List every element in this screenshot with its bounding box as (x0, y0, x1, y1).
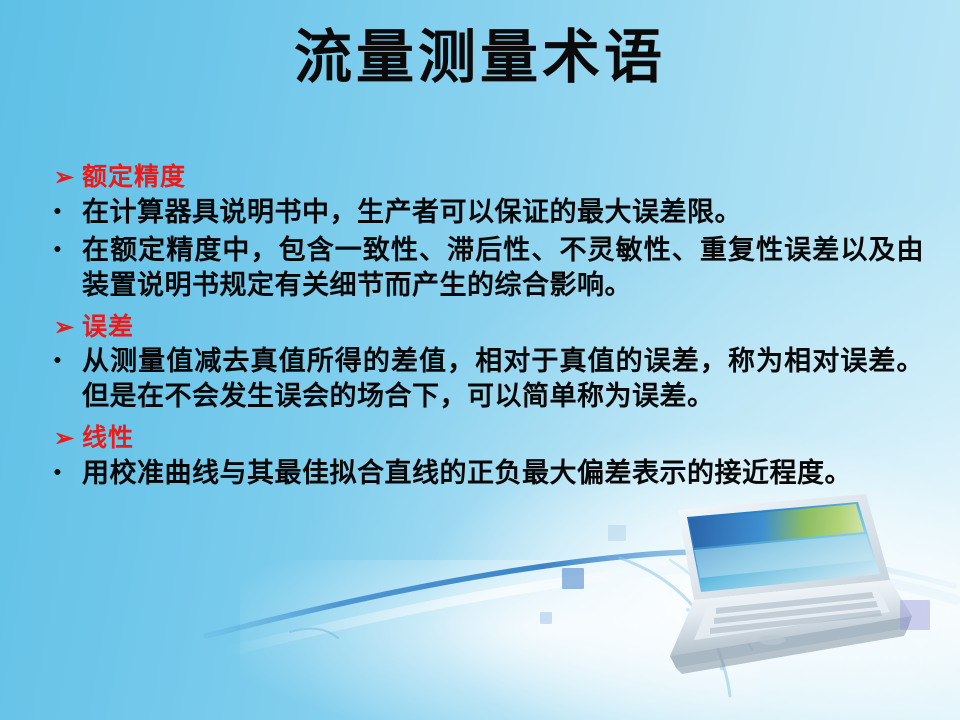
bullet-item-text: 在额定精度中，包含一致性、滞后性、不灵敏性、重复性误差以及由装置说明书规定有关细… (82, 233, 924, 303)
accent-square-pale (608, 525, 626, 541)
bullet-item-text: 从测量值减去真值所得的差值，相对于真值的误差，称为相对误差。但是在不会发生误会的… (82, 344, 924, 414)
section-heading-label: 额定精度 (82, 162, 924, 193)
arrow-bullet-icon: ➢ (44, 423, 82, 452)
bullet-item: • 从测量值减去真值所得的差值，相对于真值的误差，称为相对误差。但是在不会发生误… (44, 344, 924, 414)
content-block-error: ➢ 误差 • 从测量值减去真值所得的差值，相对于真值的误差，称为相对误差。但是在… (44, 312, 924, 415)
section-heading-row: ➢ 额定精度 (44, 162, 924, 193)
background-glow-bottom (240, 560, 760, 720)
dot-bullet-icon: • (44, 344, 82, 379)
water-splash-illustration (200, 540, 960, 720)
accent-square-lavender (900, 600, 930, 630)
accent-square-blue (562, 568, 584, 589)
dot-bullet-icon: • (44, 456, 82, 491)
bullet-item-text: 在计算器具说明书中，生产者可以保证的最大误差限。 (82, 195, 924, 230)
bullet-item: • 在额定精度中，包含一致性、滞后性、不灵敏性、重复性误差以及由装置说明书规定有… (44, 233, 924, 303)
arrow-bullet-icon: ➢ (44, 312, 82, 341)
dot-bullet-icon: • (44, 195, 82, 230)
bullet-item: • 在计算器具说明书中，生产者可以保证的最大误差限。 (44, 195, 924, 230)
bullet-item-text: 用校准曲线与其最佳拟合直线的正负最大偏差表示的接近程度。 (82, 456, 924, 491)
slide-canvas: 流量测量术语 ➢ 额定精度 • 在计算器具说明书中，生产者可以保证的最大误差限。… (0, 0, 960, 720)
content-block-linearity: ➢ 线性 • 用校准曲线与其最佳拟合直线的正负最大偏差表示的接近程度。 (44, 423, 924, 491)
bullet-item: • 用校准曲线与其最佳拟合直线的正负最大偏差表示的接近程度。 (44, 456, 924, 491)
slide-body: ➢ 额定精度 • 在计算器具说明书中，生产者可以保证的最大误差限。 • 在额定精… (44, 162, 924, 494)
section-heading-row: ➢ 误差 (44, 312, 924, 343)
content-block-rated-accuracy: ➢ 额定精度 • 在计算器具说明书中，生产者可以保证的最大误差限。 • 在额定精… (44, 162, 924, 303)
section-heading-row: ➢ 线性 (44, 423, 924, 454)
arrow-bullet-icon: ➢ (44, 162, 82, 191)
section-heading-label: 误差 (82, 312, 924, 343)
slide-title: 流量测量术语 (0, 28, 960, 86)
dot-bullet-icon: • (44, 233, 82, 268)
accent-square-small (540, 612, 552, 624)
section-heading-label: 线性 (82, 423, 924, 454)
laptop-illustration (590, 488, 920, 678)
